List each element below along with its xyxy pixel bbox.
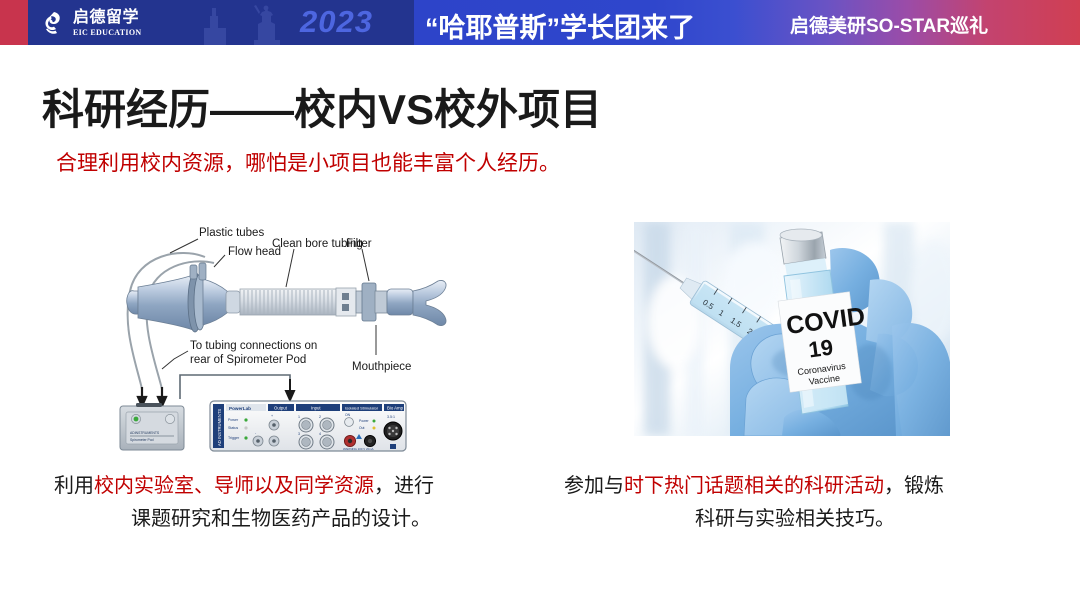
spirometer-diagram: Plastic tubes Flow head Clean bore tubin… — [62, 203, 514, 455]
svg-text:ADINSTRUMENTS: ADINSTRUMENTS — [130, 431, 160, 435]
banner-subtitle: 启德美研SO-STAR巡礼 — [790, 11, 988, 38]
caption-right-line1-post: ，锻炼 — [884, 475, 944, 497]
svg-text:Spirometer Pod: Spirometer Pod — [130, 438, 154, 442]
page-title: 科研经历——校内VS校外项目 — [42, 76, 602, 137]
svg-text:Out: Out — [359, 426, 365, 430]
banner-headline: “哈耶普斯”学长团来了 — [425, 6, 695, 45]
caption-left-line1-highlight: 校内实验室、导师以及同学资源 — [94, 475, 374, 497]
eic-swirl-logo-icon — [40, 10, 66, 36]
caption-left: 利用校内实验室、导师以及同学资源，进行 课题研究和生物医药产品的设计。 — [46, 470, 516, 536]
svg-text:4: 4 — [319, 432, 321, 436]
svg-text:WARNING 100 V 20mA: WARNING 100 V 20mA — [343, 447, 374, 451]
label-filter: Filter — [346, 238, 372, 250]
caption-right: 参加与时下热门话题相关的科研活动，锻炼 科研与实验相关技巧。 — [556, 470, 1034, 536]
svg-text:1: 1 — [298, 415, 300, 419]
svg-text:Power: Power — [359, 419, 369, 423]
label-mouthpiece: Mouthpiece — [352, 361, 411, 373]
flow-head-body — [127, 263, 240, 332]
mouthpiece-component — [387, 280, 446, 325]
banner-year: 2023 — [300, 4, 373, 40]
svg-text:3.5:1: 3.5:1 — [387, 415, 395, 419]
caption-right-line1-highlight: 时下热门话题相关的科研活动 — [624, 475, 884, 497]
powerlab-front-panel: AD INSTRUMENTS PowerLab Output Input Iso… — [210, 401, 406, 451]
clean-bore-tubing — [240, 288, 356, 316]
svg-text:Isolated Stimulator: Isolated Stimulator — [345, 406, 379, 411]
svg-text:ON: ON — [345, 413, 351, 417]
label-tubing-connections-line2: rear of Spirometer Pod — [190, 354, 306, 366]
header-banner: 启德留学 EIC EDUCATION 2023 “哈耶普斯”学长团来了 启德美研… — [0, 0, 1080, 45]
caption-left-line1-post: ，进行 — [374, 475, 434, 497]
label-plastic-tubes: Plastic tubes — [199, 227, 264, 239]
svg-text:Bio Amp: Bio Amp — [387, 406, 404, 411]
spirometer-pod: ADINSTRUMENTS Spirometer Pod — [120, 403, 184, 450]
caption-left-line2: 课题研究和生物医药产品的设计。 — [46, 503, 516, 536]
filter-component — [356, 283, 387, 321]
brand-logo-english-name: EIC EDUCATION — [73, 29, 141, 37]
svg-text:Status: Status — [228, 426, 238, 430]
svg-text:Output: Output — [274, 406, 288, 411]
svg-text:+: + — [271, 414, 273, 418]
label-tubing-connections-line1: To tubing connections on — [190, 340, 317, 352]
panel-brand-label: AD INSTRUMENTS — [217, 409, 222, 446]
statue-of-liberty-silhouette-icon — [196, 2, 316, 45]
svg-text:Trigger: Trigger — [228, 436, 240, 440]
svg-text:Power: Power — [228, 418, 239, 422]
caption-right-line1-pre: 参加与 — [564, 475, 624, 497]
banner-red-accent-block — [0, 0, 28, 45]
svg-text:2: 2 — [319, 415, 321, 419]
svg-text:3: 3 — [298, 432, 300, 436]
page-subtitle: 合理利用校内资源，哪怕是小项目也能丰富个人经历。 — [56, 147, 560, 177]
brand-logo-chinese-name: 启德留学 — [73, 10, 141, 26]
svg-text:PowerLab: PowerLab — [229, 406, 251, 411]
brand-logo: 启德留学 EIC EDUCATION — [40, 5, 141, 41]
vial-label-19: 19 — [807, 334, 835, 362]
caption-right-line2: 科研与实验相关技巧。 — [556, 503, 1034, 536]
svg-text:Input: Input — [311, 406, 321, 411]
caption-left-line1-pre: 利用 — [54, 475, 94, 497]
covid-vaccine-photo: 0.5 1 1.5 2 2.5 3ml — [634, 222, 950, 436]
